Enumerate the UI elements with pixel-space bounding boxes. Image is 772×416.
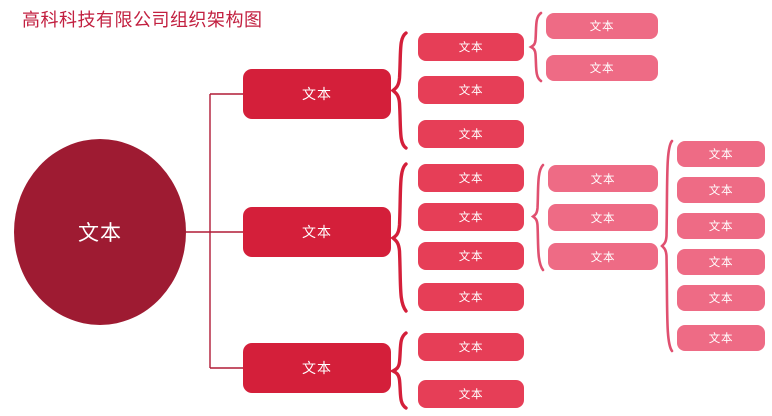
level2-node-1-label: 文本 xyxy=(302,84,332,104)
brace-level2-1 xyxy=(393,33,406,148)
level2-node-2-label: 文本 xyxy=(302,222,332,242)
level2-node-2[interactable]: 文本 xyxy=(243,207,391,257)
level4-node-middle-2-label: 文本 xyxy=(591,210,616,226)
level3-node-3-label: 文本 xyxy=(459,126,484,142)
level4-node-middle-3-label: 文本 xyxy=(591,249,616,265)
level4-node-right-3[interactable]: 文本 xyxy=(677,213,765,239)
level3-node-2-label: 文本 xyxy=(459,82,484,98)
root-node-label: 文本 xyxy=(78,217,122,247)
level4-node-right-1-label: 文本 xyxy=(709,146,734,162)
brace-level3-top xyxy=(531,13,541,81)
level3-node-3[interactable]: 文本 xyxy=(418,120,524,148)
level4-node-top-1-label: 文本 xyxy=(590,18,615,34)
root-node[interactable]: 文本 xyxy=(14,139,186,325)
level3-node-6[interactable]: 文本 xyxy=(418,242,524,270)
level4-node-top-2-label: 文本 xyxy=(590,60,615,76)
level3-node-9[interactable]: 文本 xyxy=(418,380,524,408)
level3-node-8-label: 文本 xyxy=(459,339,484,355)
level3-node-5[interactable]: 文本 xyxy=(418,203,524,231)
level4-node-right-4[interactable]: 文本 xyxy=(677,249,765,275)
org-chart-canvas: 高科科技有限公司组织架构图 文本 文本 文本 文本 xyxy=(0,0,772,416)
level3-node-1-label: 文本 xyxy=(459,39,484,55)
brace-level2-3 xyxy=(393,333,406,408)
level4-node-middle-3[interactable]: 文本 xyxy=(548,243,658,270)
level4-node-right-3-label: 文本 xyxy=(709,218,734,234)
level3-node-5-label: 文本 xyxy=(459,209,484,225)
brace-level3-middle xyxy=(533,165,543,270)
level3-node-2[interactable]: 文本 xyxy=(418,76,524,104)
level2-node-3-label: 文本 xyxy=(302,358,332,378)
level4-node-right-2[interactable]: 文本 xyxy=(677,177,765,203)
level3-node-6-label: 文本 xyxy=(459,248,484,264)
level4-node-right-5[interactable]: 文本 xyxy=(677,285,765,311)
level4-node-right-6[interactable]: 文本 xyxy=(677,325,765,351)
level4-node-right-6-label: 文本 xyxy=(709,330,734,346)
level4-node-top-1[interactable]: 文本 xyxy=(546,13,658,39)
level3-node-4-label: 文本 xyxy=(459,170,484,186)
level4-node-middle-2[interactable]: 文本 xyxy=(548,204,658,231)
level3-node-8[interactable]: 文本 xyxy=(418,333,524,361)
level3-node-9-label: 文本 xyxy=(459,386,484,402)
level3-node-7[interactable]: 文本 xyxy=(418,283,524,311)
level2-node-1[interactable]: 文本 xyxy=(243,69,391,119)
level4-node-right-5-label: 文本 xyxy=(709,290,734,306)
brace-level3-right xyxy=(662,141,672,351)
level4-node-right-1[interactable]: 文本 xyxy=(677,141,765,167)
level4-node-middle-1-label: 文本 xyxy=(591,171,616,187)
level4-node-right-2-label: 文本 xyxy=(709,182,734,198)
level4-node-right-4-label: 文本 xyxy=(709,254,734,270)
brace-level2-2 xyxy=(393,164,406,311)
level4-node-top-2[interactable]: 文本 xyxy=(546,55,658,81)
page-title: 高科科技有限公司组织架构图 xyxy=(22,9,263,33)
level2-node-3[interactable]: 文本 xyxy=(243,343,391,393)
level3-node-4[interactable]: 文本 xyxy=(418,164,524,192)
level3-node-1[interactable]: 文本 xyxy=(418,33,524,61)
level4-node-middle-1[interactable]: 文本 xyxy=(548,165,658,192)
root-connector-group xyxy=(186,94,243,368)
level3-node-7-label: 文本 xyxy=(459,289,484,305)
